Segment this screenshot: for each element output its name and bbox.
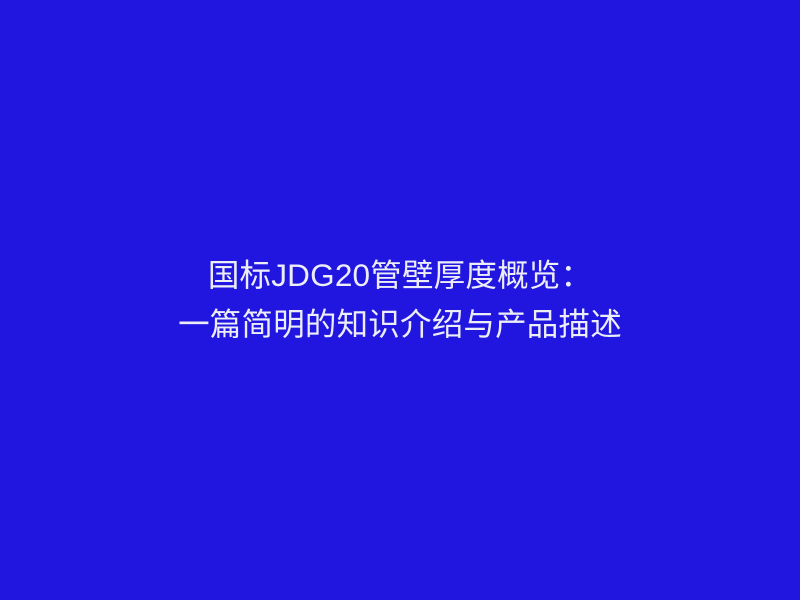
title-banner: 国标JDG20管壁厚度概览：一篇简明的知识介绍与产品描述	[0, 0, 800, 600]
title-block: 国标JDG20管壁厚度概览：一篇简明的知识介绍与产品描述	[50, 251, 750, 349]
page-title: 国标JDG20管壁厚度概览：一篇简明的知识介绍与产品描述	[60, 251, 740, 349]
